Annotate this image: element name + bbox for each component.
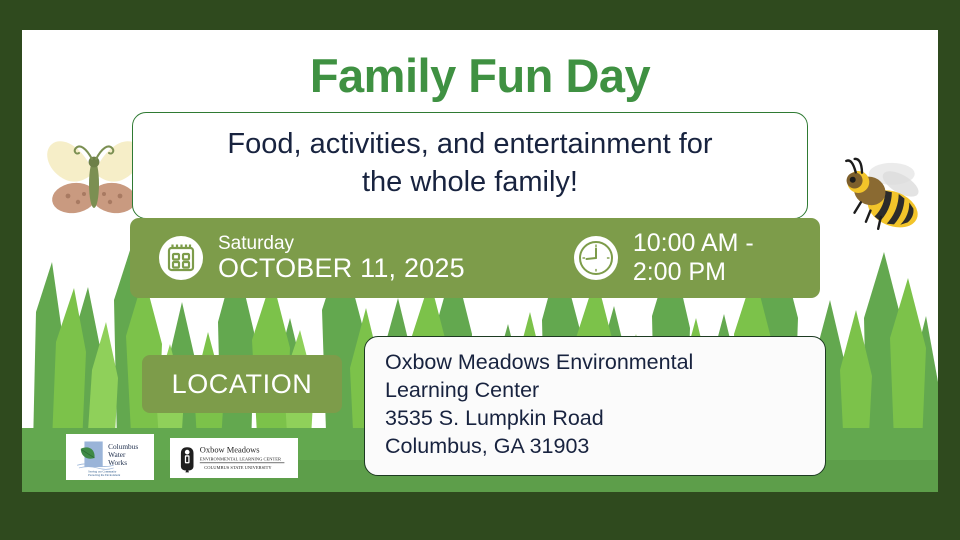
address-line: Oxbow Meadows Environmental xyxy=(385,349,807,377)
svg-text:Oxbow Meadows: Oxbow Meadows xyxy=(200,445,260,455)
datetime-band: Saturday OCTOBER 11, 2025 xyxy=(130,218,820,298)
time-group: 10:00 AM - 2:00 PM xyxy=(573,229,754,287)
address-line: Learning Center xyxy=(385,377,807,405)
svg-text:Works: Works xyxy=(108,458,127,467)
oxbow-meadows-logo: Oxbow Meadows ENVIRONMENTAL LEARNING CEN… xyxy=(170,438,298,478)
event-time-line-1: 10:00 AM - xyxy=(633,229,754,258)
svg-text:ENVIRONMENTAL LEARNING CENTER: ENVIRONMENTAL LEARNING CENTER xyxy=(200,457,281,462)
event-date: OCTOBER 11, 2025 xyxy=(218,254,465,283)
svg-text:COLUMBUS STATE UNIVERSITY: COLUMBUS STATE UNIVERSITY xyxy=(204,465,272,470)
subtitle-box: Food, activities, and entertainment for … xyxy=(132,112,808,219)
svg-text:Protecting the Environment: Protecting the Environment xyxy=(88,473,120,477)
subtitle-line-2: the whole family! xyxy=(155,163,785,201)
date-group: Saturday OCTOBER 11, 2025 xyxy=(158,234,465,283)
flyer-card: Family Fun Day Food, activities, and ent… xyxy=(22,30,938,492)
columbus-water-works-logo: Columbus Water Works Serving our Communi… xyxy=(66,434,154,480)
address-box: Oxbow Meadows Environmental Learning Cen… xyxy=(364,336,826,476)
flyer-frame: Family Fun Day Food, activities, and ent… xyxy=(0,0,960,540)
location-label-box: LOCATION xyxy=(142,355,342,413)
logo-row: Columbus Water Works Serving our Communi… xyxy=(66,434,298,480)
page-title: Family Fun Day xyxy=(22,48,938,103)
subtitle-line-1: Food, activities, and entertainment for xyxy=(155,125,785,163)
address-line: Columbus, GA 31903 xyxy=(385,433,807,461)
location-label: LOCATION xyxy=(172,369,313,400)
event-weekday: Saturday xyxy=(218,234,465,254)
address-line: 3535 S. Lumpkin Road xyxy=(385,405,807,433)
bee-icon xyxy=(830,148,934,244)
event-time-line-2: 2:00 PM xyxy=(633,258,754,287)
calendar-icon xyxy=(158,235,204,281)
clock-icon xyxy=(573,235,619,281)
